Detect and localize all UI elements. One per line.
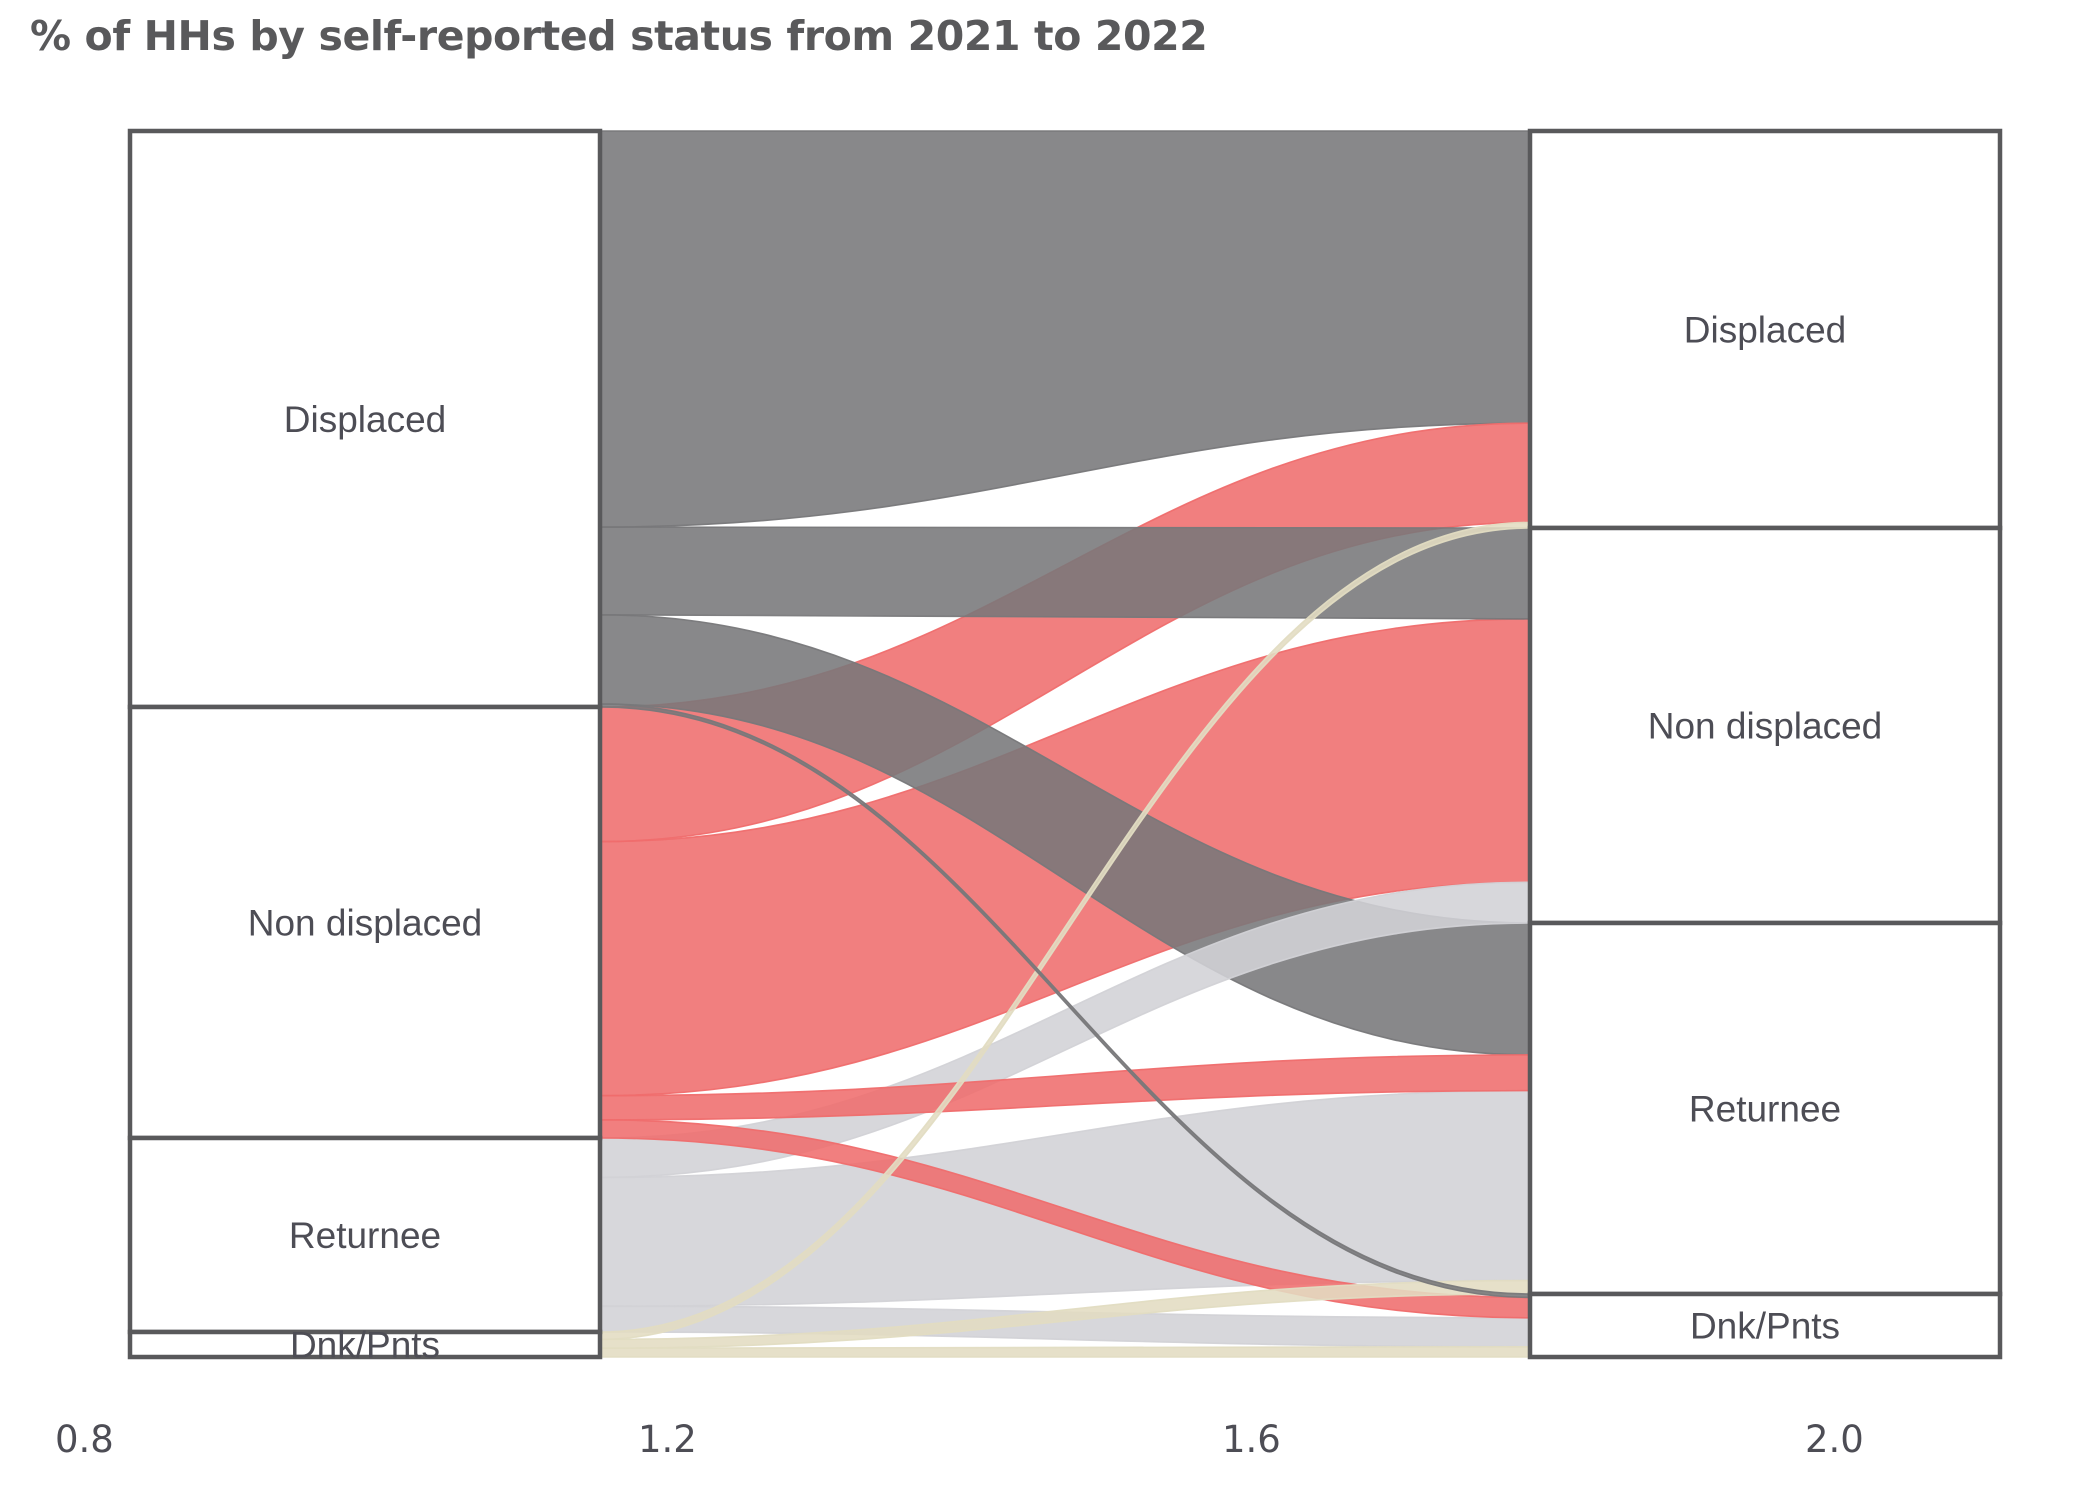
- axis-tick-2-0: 2.0: [1805, 1418, 1864, 1461]
- node-label-dnk_pnts-left: Dnk/Pnts: [290, 1325, 440, 1366]
- axis-tick-0-8: 0.8: [55, 1418, 114, 1461]
- node-label-dnk_pnts-right: Dnk/Pnts: [1690, 1306, 1840, 1347]
- node-label-displaced-left: Displaced: [284, 399, 446, 440]
- axis-tick-layer: 0.81.21.62.0: [55, 1418, 1864, 1461]
- flow-ribbon[interactable]: [600, 527, 1530, 619]
- flow-ribbon[interactable]: [600, 1347, 1530, 1357]
- flow-ribbon-layer: [600, 131, 1530, 1357]
- node-label-non_displaced-right: Non displaced: [1648, 706, 1882, 747]
- chart-page: % of HHs by self-reported status from 20…: [0, 0, 2100, 1500]
- node-label-displaced-right: Displaced: [1684, 310, 1846, 351]
- axis-tick-1-6: 1.6: [1222, 1418, 1281, 1461]
- node-label-returnee-right: Returnee: [1689, 1089, 1841, 1130]
- node-label-non_displaced-left: Non displaced: [248, 903, 482, 944]
- flow-ribbon[interactable]: [600, 1091, 1530, 1307]
- node-label-returnee-left: Returnee: [289, 1215, 441, 1256]
- sankey-diagram: DisplacedNon displacedReturneeDnk/PntsDi…: [0, 0, 2100, 1500]
- axis-tick-1-2: 1.2: [638, 1418, 697, 1461]
